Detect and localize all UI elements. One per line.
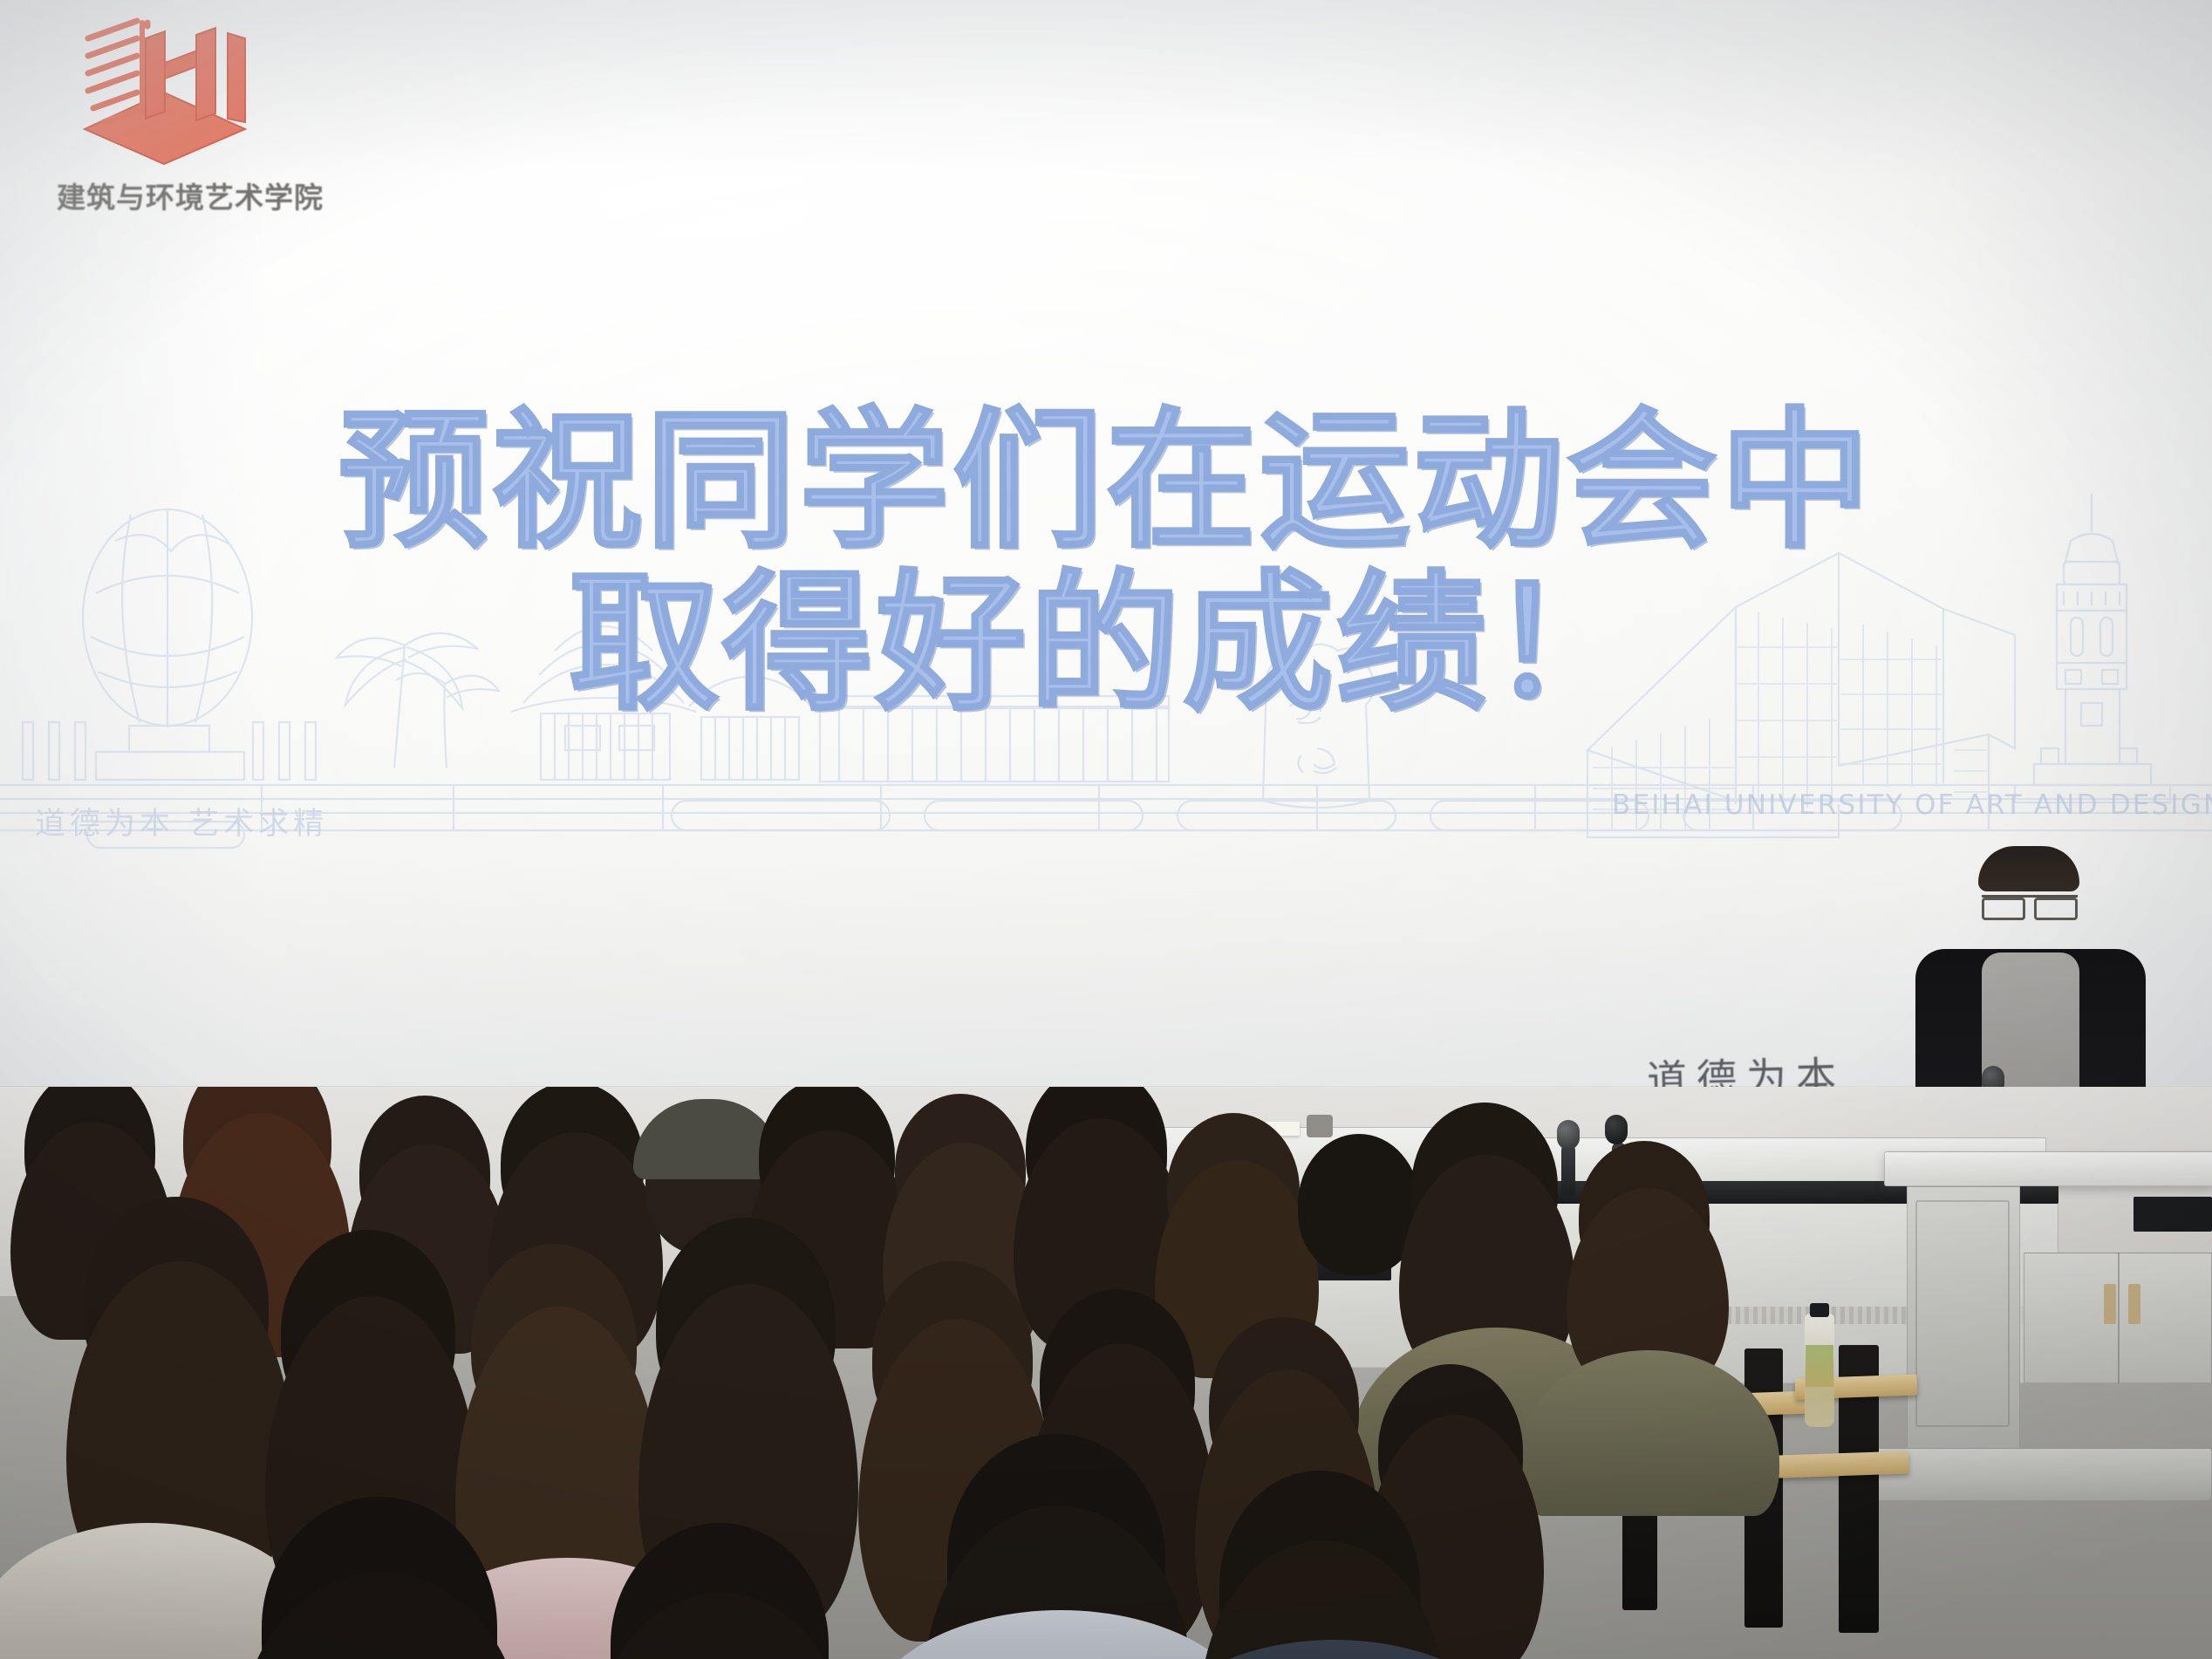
slide-headline: 预祝同学们在运动会中 取得好的成绩！ [0, 394, 2212, 730]
slide-headline-line-1: 预祝同学们在运动会中 [0, 394, 2212, 569]
slide-university-name-english: BEIHAI UNIVERSITY OF ART AND DESIGN [1612, 789, 2212, 821]
drink-bottle-label [1806, 1345, 1833, 1387]
slide-headline-line-2: 取得好的成绩！ [0, 556, 2212, 731]
college-logo-mark [74, 9, 257, 166]
college-logo-caption: 建筑与环境艺术学院 [57, 174, 318, 216]
presenter-hair [1978, 846, 2079, 891]
student-desk [1778, 1451, 1909, 1478]
audience-group [0, 1087, 2212, 1659]
college-logo: 建筑与环境艺术学院 [48, 9, 327, 227]
photo-canvas: 道德为本 艺术求精 BEIHAI UNIVERSITY OF ART AND D… [0, 0, 2212, 1659]
presenter-glasses [1982, 895, 2078, 914]
drink-bottle-cap [1810, 1303, 1829, 1317]
